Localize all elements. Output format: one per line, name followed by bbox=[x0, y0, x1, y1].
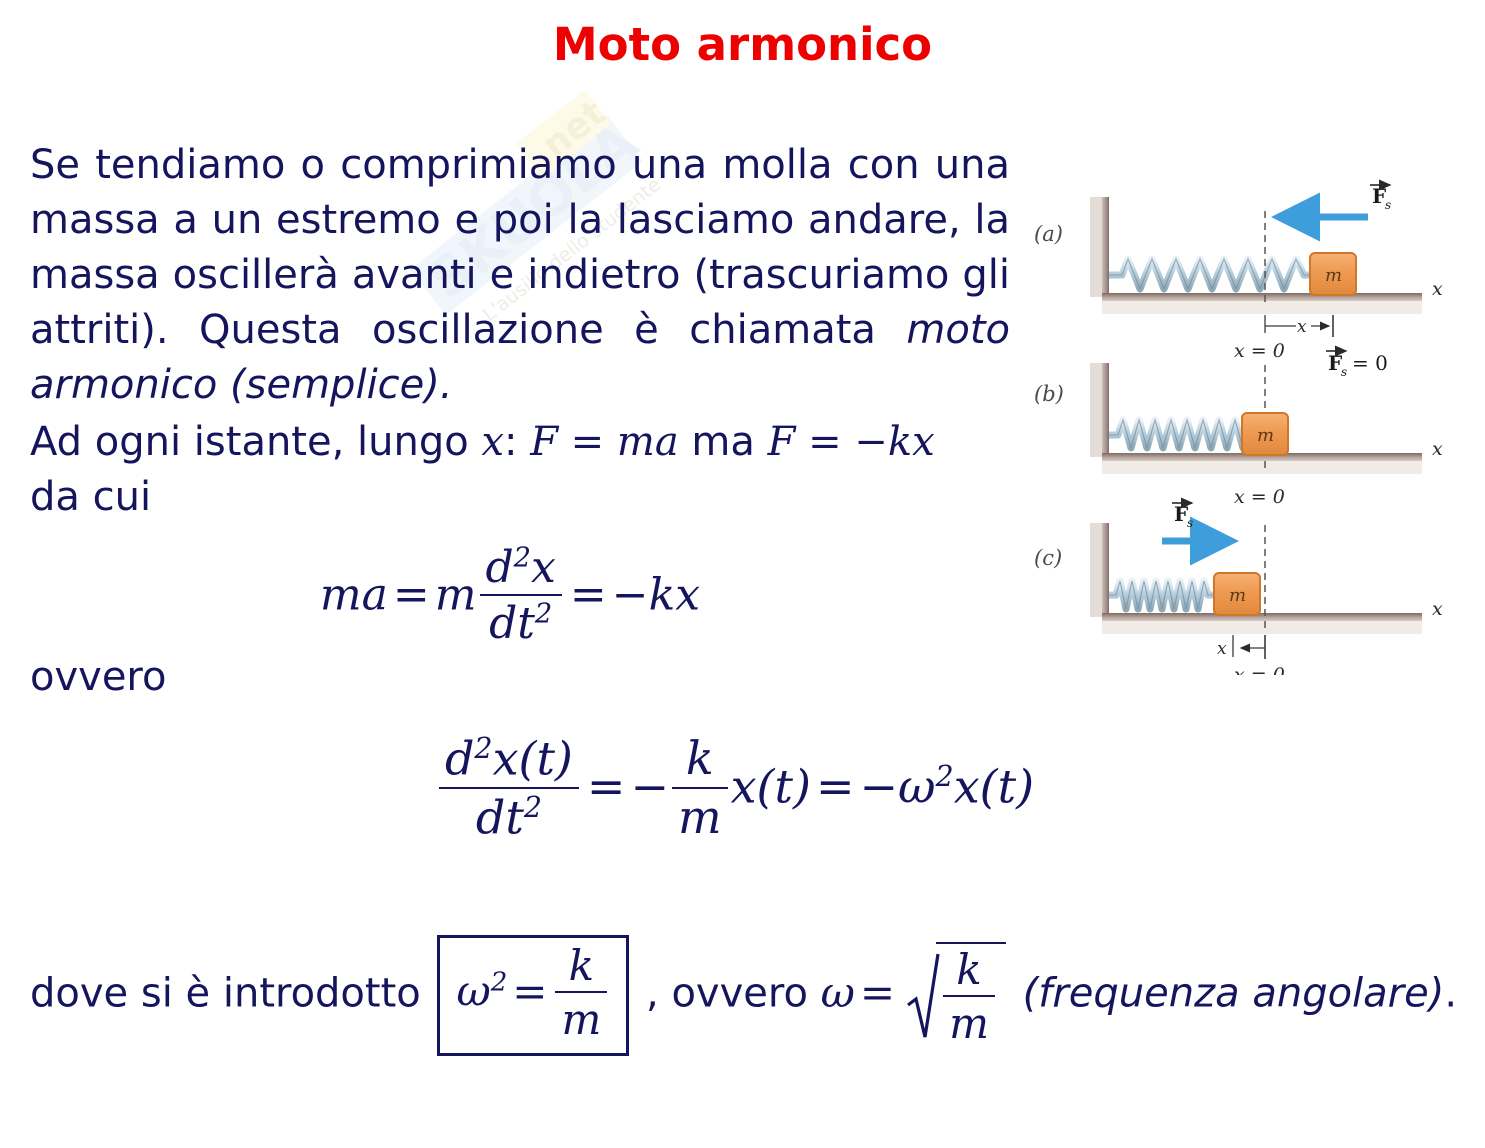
panel-a-axis-label: x bbox=[1432, 278, 1443, 300]
eq2-num-d: d bbox=[445, 731, 474, 785]
eq2-minus-2: − bbox=[859, 759, 898, 813]
eq1-num-var: x bbox=[531, 542, 556, 593]
boxed-num-k: k bbox=[569, 941, 594, 990]
eq1-equals-2: = bbox=[565, 569, 612, 620]
panel-b: (b) x m F s = 0 x = 0 bbox=[1034, 351, 1443, 508]
eq2-omega: ω bbox=[898, 759, 936, 813]
panel-c-mass-label: m bbox=[1229, 585, 1246, 606]
boxed-equals: = bbox=[507, 967, 552, 1016]
eq2-fraction-lhs: d2x(t)dt2 bbox=[439, 733, 579, 844]
spring-mass-figure: (a) x m F s x x = 0 (b) bbox=[1028, 175, 1485, 675]
eq1-rhs: −kx bbox=[612, 569, 700, 620]
equation-ma-display: ma=md2xdt2=−kx bbox=[0, 545, 1020, 651]
panel-a-displacement-label: x bbox=[1297, 317, 1307, 337]
eq2-minus: − bbox=[630, 759, 669, 813]
panel-b-force-sub: s bbox=[1341, 365, 1347, 379]
sqrt-omega: ω bbox=[821, 968, 855, 1017]
sqrt-fraction: km bbox=[943, 946, 995, 1047]
eq1-num-pow: 2 bbox=[514, 542, 531, 573]
panel-a-mass-label: m bbox=[1325, 265, 1342, 286]
eq2-num-var: x(t) bbox=[493, 731, 573, 785]
panel-c-label: (c) bbox=[1034, 546, 1062, 570]
panel-a: (a) x m F s x x = 0 bbox=[1034, 184, 1443, 362]
panel-a-label: (a) bbox=[1034, 222, 1063, 246]
panel-b-label: (b) bbox=[1034, 382, 1064, 406]
paragraph-intro-text: Se tendiamo o comprimiamo una molla con … bbox=[30, 142, 1010, 353]
eq2-fraction-km: km bbox=[672, 733, 728, 843]
eq1-den-pow: 2 bbox=[535, 599, 552, 630]
boxed-omega-pow: 2 bbox=[491, 968, 508, 998]
final-line-frequenza: (frequenza angolare) bbox=[1023, 971, 1445, 1017]
final-line-ovvero: , ovvero bbox=[646, 971, 808, 1017]
line-ad-ogni-istante: Ad ogni istante, lungo x: F = ma ma F = … bbox=[30, 415, 1010, 470]
line-ovvero: ovvero bbox=[30, 650, 166, 705]
sqrt-den-m: m bbox=[949, 999, 989, 1048]
inline-eq-newton: F = ma bbox=[530, 419, 678, 465]
eq1-lhs: ma bbox=[320, 569, 388, 620]
inline-eq-hooke: F = −kx bbox=[768, 419, 935, 465]
panel-c-origin-label: x = 0 bbox=[1234, 664, 1285, 675]
boxed-den-m: m bbox=[561, 995, 601, 1044]
boxed-fraction: km bbox=[555, 942, 607, 1043]
line-da-cui: da cui bbox=[30, 470, 1010, 525]
eq2-k: k bbox=[686, 731, 714, 785]
sqrt-equation: ω=km bbox=[821, 968, 1010, 1017]
paragraph-intro: Se tendiamo o comprimiamo una molla con … bbox=[30, 138, 1010, 413]
final-line-period: . bbox=[1444, 971, 1457, 1017]
radical-sign-icon bbox=[906, 949, 940, 1041]
eq1-fraction: d2xdt2 bbox=[480, 543, 562, 649]
panel-c: (c) x m F s x x = 0 bbox=[1034, 502, 1443, 675]
eq2-den-dt: dt bbox=[476, 790, 524, 844]
final-line-prefix: dove si è introdotto bbox=[30, 971, 421, 1017]
line-dove-si-e-introdotto: dove si è introdotto ω2=km , ovvero ω=km… bbox=[30, 935, 1460, 1056]
panel-b-force-zero: = 0 bbox=[1352, 351, 1388, 375]
body-text-column: Se tendiamo o comprimiamo una molla con … bbox=[30, 138, 1010, 525]
eq1-mass: m bbox=[435, 569, 477, 620]
eq2-equals: = bbox=[582, 759, 631, 813]
page-title: Moto armonico bbox=[0, 18, 1485, 71]
eq1-den-dt: dt bbox=[489, 598, 535, 649]
panel-b-mass-label: m bbox=[1257, 425, 1274, 446]
eq2-num-pow: 2 bbox=[474, 732, 492, 765]
panel-b-origin-label: x = 0 bbox=[1234, 486, 1285, 508]
eq2-xt-2: x(t) bbox=[954, 759, 1034, 813]
line-prefix: Ad ogni istante, lungo bbox=[30, 419, 481, 465]
eq2-m: m bbox=[678, 790, 722, 844]
eq2-equals-2: = bbox=[811, 759, 860, 813]
panel-c-axis-label: x bbox=[1432, 598, 1443, 620]
equation-sho-display: d2x(t)dt2=−kmx(t)=−ω2x(t) bbox=[0, 735, 1470, 846]
sqrt-equals: = bbox=[855, 968, 900, 1017]
eq1-equals: = bbox=[388, 569, 435, 620]
eq2-den-pow: 2 bbox=[524, 791, 542, 824]
inline-var-x: x bbox=[481, 419, 504, 465]
eq2-omega-pow: 2 bbox=[936, 760, 954, 793]
sqrt-num-k: k bbox=[956, 945, 981, 994]
eq2-xt: x(t) bbox=[731, 759, 811, 813]
panel-c-displacement-label: x bbox=[1217, 639, 1227, 659]
panel-a-origin-label: x = 0 bbox=[1234, 340, 1285, 362]
boxed-omega-squared-formula: ω2=km bbox=[437, 935, 629, 1056]
panel-a-force-sub: s bbox=[1385, 198, 1391, 212]
eq1-num-d: d bbox=[486, 542, 514, 593]
panel-c-force-sub: s bbox=[1187, 516, 1193, 530]
sqrt-radical-group: km bbox=[906, 942, 1006, 1049]
inline-colon: : bbox=[504, 419, 517, 465]
panel-b-axis-label: x bbox=[1432, 438, 1443, 460]
inline-conjunction: ma bbox=[691, 419, 754, 465]
boxed-omega: ω bbox=[456, 967, 490, 1016]
